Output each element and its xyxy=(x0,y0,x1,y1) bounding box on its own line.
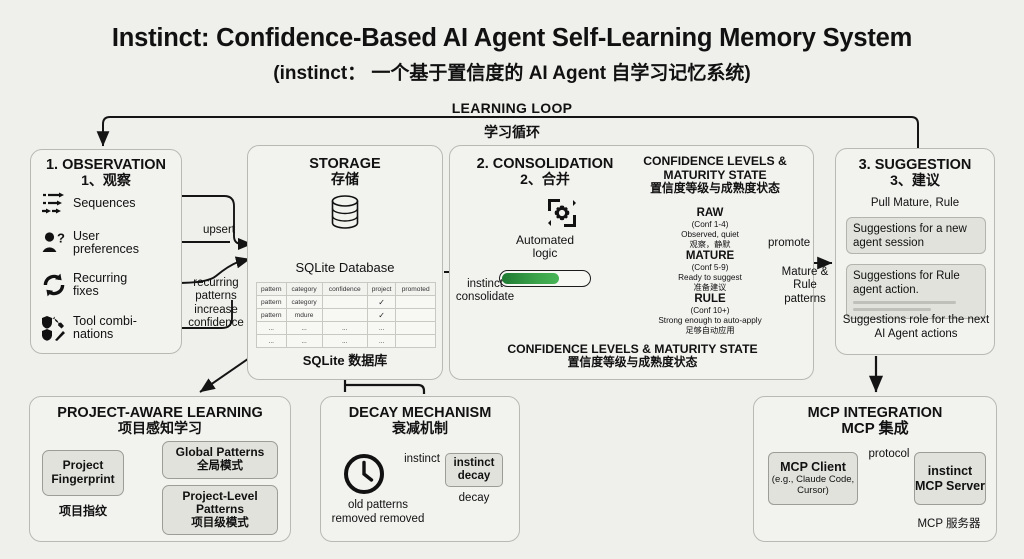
edge-label-protocol: protocol xyxy=(862,448,916,461)
sequences-icon xyxy=(41,191,67,217)
suggestion-title-en: 3. SUGGESTION xyxy=(859,157,972,173)
pyramid-footer: CONFIDENCE LEVELS & MATURITY STATE 置信度等级… xyxy=(450,342,815,370)
observation-item-label: User preferences xyxy=(73,230,139,257)
maturity-level-rule: RULE (Conf 10+) Strong enough to auto-ap… xyxy=(622,293,798,336)
suggestion-title-zh: 3、建议 xyxy=(836,173,994,189)
table-row: pattern category ✓ xyxy=(257,296,436,309)
observation-item-label: Recurring fixes xyxy=(73,272,127,299)
table-cell xyxy=(322,309,367,322)
tool-combinations-icon xyxy=(41,315,67,341)
table-cell: ... xyxy=(257,322,287,335)
level-desc: Ready to suggest xyxy=(635,273,785,283)
storage-db-label-zh: SQLite 数据库 xyxy=(248,350,442,369)
mcp-panel: MCP INTEGRATION MCP 集成 MCP Client (e.g.,… xyxy=(753,396,997,542)
level-conf: (Conf 10+) xyxy=(622,306,798,316)
observation-panel: 1. OBSERVATION 1、观察 Sequences xyxy=(30,149,182,354)
mcp-title-en: MCP INTEGRATION xyxy=(808,405,943,421)
table-cell: ... xyxy=(257,335,287,348)
mcp-server-label: instinct MCP Server xyxy=(915,464,985,494)
edge-label-mature-rule: Mature & Rule patterns xyxy=(780,266,830,306)
project-level-patterns-label-zh: 项目级模式 xyxy=(191,517,249,530)
project-level-patterns-box[interactable]: Project-Level Patterns 项目级模式 xyxy=(162,485,278,535)
automated-logic-icon xyxy=(545,196,579,235)
instinct-decay-label: instinct decay xyxy=(454,457,495,483)
suggestion-card-text: Suggestions for Rule agent action. xyxy=(853,270,960,296)
storage-panel: STORAGE 存储 SQLite Database pattern categ… xyxy=(247,145,443,380)
table-header-cell: confidence xyxy=(322,283,367,296)
project-learning-title-en: PROJECT-AWARE LEARNING xyxy=(57,405,262,421)
table-row: ... ... ... ... xyxy=(257,335,436,348)
table-row: ... ... ... ... xyxy=(257,322,436,335)
storage-db-label: SQLite Database xyxy=(248,260,442,275)
project-fingerprint-box[interactable]: Project Fingerprint xyxy=(42,450,124,496)
table-cell-check: ✓ xyxy=(367,309,396,322)
table-cell xyxy=(396,335,436,348)
decay-title: DECAY MECHANISM 衰减机制 xyxy=(321,405,519,437)
pyramid-footer-en: CONFIDENCE LEVELS & MATURITY STATE xyxy=(507,342,757,356)
mcp-client-note: (e.g., Claude Code, Cursor) xyxy=(769,475,857,497)
project-level-patterns-label-en: Project-Level Patterns xyxy=(163,490,277,518)
observation-title-zh: 1、观察 xyxy=(31,173,181,189)
project-learning-panel: PROJECT-AWARE LEARNING 项目感知学习 Project Fi… xyxy=(29,396,291,542)
table-cell: ... xyxy=(367,335,396,348)
table-cell: category xyxy=(286,296,322,309)
table-header-cell: pattern xyxy=(257,283,287,296)
table-cell: pattern xyxy=(257,309,287,322)
decay-clock-caption: old patterns removed removed xyxy=(323,499,433,527)
page-subtitle: (instinct： 一个基于置信度的 AI Agent 自学习记忆系统) xyxy=(0,58,1024,85)
observation-item-sequences[interactable]: Sequences xyxy=(41,191,136,217)
table-cell: pattern xyxy=(257,296,287,309)
learning-loop-label-en: LEARNING LOOP xyxy=(0,100,1024,116)
level-desc-zh: 足够自动应用 xyxy=(622,326,798,336)
consolidation-title-zh: 2、合并 xyxy=(460,172,630,188)
edge-label-instinct-consolidate: instinct consolidate xyxy=(447,278,523,305)
svg-text:?: ? xyxy=(57,231,65,246)
table-cell xyxy=(396,296,436,309)
table-cell xyxy=(322,296,367,309)
suggestion-panel: 3. SUGGESTION 3、建议 Pull Mature, Rule Sug… xyxy=(835,148,995,355)
level-desc-zh: 观察，静默 xyxy=(645,240,775,250)
edge-label-recurring: recurring patterns increase confidence xyxy=(183,277,249,330)
mcp-title: MCP INTEGRATION MCP 集成 xyxy=(754,405,996,438)
mcp-title-zh: MCP 集成 xyxy=(754,421,996,438)
table-cell: mdure xyxy=(286,309,322,322)
table-cell: ... xyxy=(322,335,367,348)
instinct-decay-box[interactable]: instinct decay xyxy=(445,453,503,487)
edge-label-instinct: instinct xyxy=(393,453,451,466)
pyramid-title-en: CONFIDENCE LEVELS & MATURITY STATE xyxy=(643,154,787,182)
suggestion-card[interactable]: Suggestions for a new agent session xyxy=(846,217,986,254)
level-conf: (Conf 5-9) xyxy=(635,263,785,273)
table-header-cell: promoted xyxy=(396,283,436,296)
table-row: pattern mdure ✓ xyxy=(257,309,436,322)
table-cell: ... xyxy=(286,322,322,335)
storage-title: STORAGE 存储 xyxy=(248,156,442,188)
level-desc: Strong enough to auto-apply xyxy=(622,316,798,326)
clock-icon xyxy=(343,453,385,500)
global-patterns-label-zh: 全局模式 xyxy=(197,460,243,473)
edge-label-promote: promote xyxy=(768,237,826,250)
table-cell xyxy=(396,309,436,322)
decay-box-caption: decay xyxy=(445,492,503,506)
maturity-level-mature: MATURE (Conf 5-9) Ready to suggest 准备建议 xyxy=(635,250,785,293)
observation-title-en: 1. OBSERVATION xyxy=(46,157,166,173)
suggestion-title: 3. SUGGESTION 3、建议 xyxy=(836,157,994,189)
learning-loop-label-zh: 学习循环 xyxy=(0,122,1024,142)
pyramid-footer-zh: 置信度等级与成熟度状态 xyxy=(450,356,815,370)
observation-item-recurring-fixes[interactable]: Recurring fixes xyxy=(41,272,127,299)
user-preferences-icon: ? xyxy=(41,230,67,256)
suggestion-card[interactable]: Suggestions for Rule agent action. xyxy=(846,264,986,319)
recurring-fixes-icon xyxy=(41,272,67,298)
mcp-server-label-zh: MCP 服务器 xyxy=(904,515,994,531)
decay-panel: DECAY MECHANISM 衰减机制 old patterns remove… xyxy=(320,396,520,542)
edge-label-upsert: upsert xyxy=(191,224,247,237)
page-title: Instinct: Confidence-Based AI Agent Self… xyxy=(0,24,1024,53)
observation-item-label: Tool combi- nations xyxy=(73,315,137,342)
table-cell-check: ✓ xyxy=(367,296,396,309)
project-learning-title-zh: 项目感知学习 xyxy=(30,421,290,437)
global-patterns-label-en: Global Patterns xyxy=(176,446,265,460)
table-header-row: pattern category confidence project prom… xyxy=(257,283,436,296)
project-learning-title: PROJECT-AWARE LEARNING 项目感知学习 xyxy=(30,405,290,437)
consolidation-title-en: 2. CONSOLIDATION xyxy=(477,156,614,172)
level-desc-zh: 准备建议 xyxy=(635,283,785,293)
pattern-table: pattern category confidence project prom… xyxy=(256,282,436,348)
database-icon xyxy=(328,194,362,239)
level-desc: Observed, quiet xyxy=(645,230,775,240)
pyramid-title-zh: 置信度等级与成熟度状态 xyxy=(620,182,810,196)
consolidation-title: 2. CONSOLIDATION 2、合并 xyxy=(460,156,630,188)
pyramid-title: CONFIDENCE LEVELS & MATURITY STATE 置信度等级… xyxy=(620,154,810,196)
global-patterns-box[interactable]: Global Patterns 全局模式 xyxy=(162,441,278,479)
observation-item-label: Sequences xyxy=(73,197,136,210)
storage-title-en: STORAGE xyxy=(309,156,380,172)
suggestion-footer: Suggestions role for the next AI Agent a… xyxy=(842,314,990,342)
table-cell: ... xyxy=(367,322,396,335)
level-name: RAW xyxy=(645,207,775,220)
decay-title-en: DECAY MECHANISM xyxy=(349,405,492,421)
table-header-cell: project xyxy=(367,283,396,296)
level-conf: (Conf 1-4) xyxy=(645,220,775,230)
placeholder-bar xyxy=(853,308,931,311)
diagram-root: Instinct: Confidence-Based AI Agent Self… xyxy=(0,0,1024,559)
automated-logic-label: Automated logic xyxy=(460,234,630,260)
observation-item-user-preferences[interactable]: ? User preferences xyxy=(41,230,139,257)
mcp-client-box[interactable]: MCP Client (e.g., Claude Code, Cursor) xyxy=(768,452,858,505)
mcp-server-box[interactable]: instinct MCP Server xyxy=(914,452,986,505)
project-fingerprint-label: Project Fingerprint xyxy=(51,459,114,487)
suggestion-pull-label: Pull Mature, Rule xyxy=(836,197,994,209)
suggestion-card-text: Suggestions for a new agent session xyxy=(853,223,967,249)
table-header-cell: category xyxy=(286,283,322,296)
level-name: MATURE xyxy=(635,250,785,263)
maturity-level-raw: RAW (Conf 1-4) Observed, quiet 观察，静默 xyxy=(645,207,775,250)
decay-title-zh: 衰减机制 xyxy=(321,421,519,437)
project-fingerprint-label-zh: 项目指纹 xyxy=(42,502,124,519)
mcp-client-label: MCP Client xyxy=(780,460,846,475)
observation-item-tool-combinations[interactable]: Tool combi- nations xyxy=(41,315,137,342)
table-cell xyxy=(396,322,436,335)
storage-title-zh: 存储 xyxy=(248,172,442,188)
table-cell: ... xyxy=(286,335,322,348)
placeholder-bar xyxy=(853,301,956,304)
level-name: RULE xyxy=(622,293,798,306)
table-cell: ... xyxy=(322,322,367,335)
